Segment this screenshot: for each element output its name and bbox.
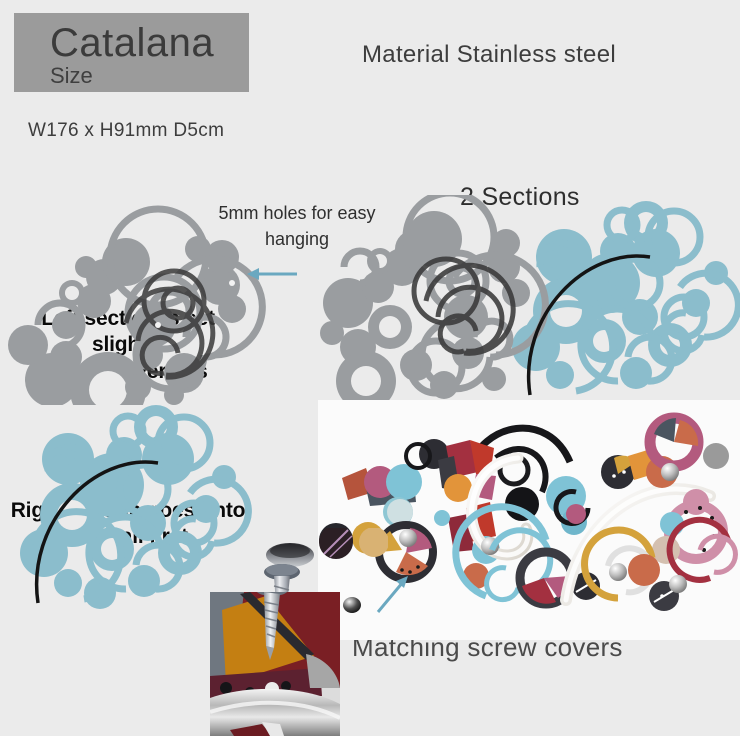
title-box: Catalana Size [14, 13, 249, 92]
page-title: Catalana [50, 23, 214, 63]
slide-canvas: Catalana Size W176 x H91mm D5cm Material… [0, 0, 740, 736]
material-text: Material Stainless steel [362, 41, 616, 69]
screw-cover-dome-small [340, 594, 364, 614]
arrow-diagonal-icon [372, 572, 412, 616]
artwork-full-piece [318, 195, 740, 410]
artwork-left-section-detail [8, 205, 308, 405]
colour-chip-row [318, 528, 388, 564]
screw-photo-content [210, 592, 340, 736]
arrow-left-icon [245, 263, 299, 285]
screw-photo-inset [210, 592, 340, 736]
title-subtitle: Size [50, 65, 93, 87]
dimensions-text: W176 x H91mm D5cm [28, 120, 224, 142]
